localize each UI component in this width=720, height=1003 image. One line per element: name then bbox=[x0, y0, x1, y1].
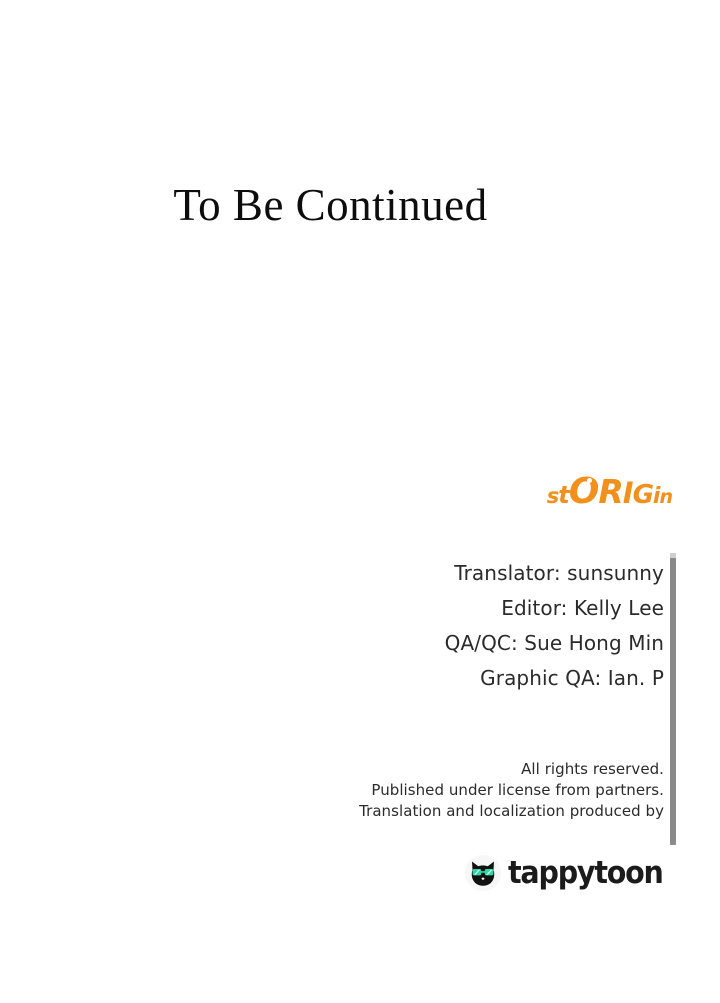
legal-line-rights: All rights reserved. bbox=[0, 759, 664, 780]
credit-line-qa-qc: QA/QC: Sue Hong Min bbox=[0, 626, 664, 661]
storigin-letter-t: t bbox=[558, 483, 568, 507]
comic-credits-page: To Be Continued stORIGin Translator: sun… bbox=[0, 0, 720, 1003]
storigin-letter-o: O bbox=[569, 474, 599, 510]
to-be-continued-heading-container: To Be Continued bbox=[0, 182, 720, 229]
credits-block: Translator: sunsunny Editor: Kelly Lee Q… bbox=[0, 556, 664, 696]
storigin-letter-r: R bbox=[598, 475, 622, 508]
storigin-logo: stORIGin bbox=[0, 474, 672, 514]
legal-line-license: Published under license from partners. bbox=[0, 780, 664, 801]
credit-line-translator: Translator: sunsunny bbox=[0, 556, 664, 591]
scrollbar-thumb[interactable] bbox=[670, 553, 676, 845]
tappytoon-logo-inner: tappytoon bbox=[465, 855, 676, 891]
tappytoon-logo: tappytoon bbox=[0, 855, 676, 891]
legal-line-localization: Translation and localization produced by bbox=[0, 801, 664, 822]
credit-line-graphic-qa: Graphic QA: Ian. P bbox=[0, 661, 664, 696]
credit-line-editor: Editor: Kelly Lee bbox=[0, 591, 664, 626]
storigin-letter-i: I bbox=[623, 479, 633, 508]
storigin-letter-g: G bbox=[633, 482, 653, 508]
legal-block: All rights reserved. Published under lic… bbox=[0, 759, 664, 822]
storigin-letter-n: n bbox=[659, 488, 672, 507]
storigin-letter-s: s bbox=[547, 486, 559, 507]
tappytoon-cat-icon bbox=[465, 855, 501, 891]
to-be-continued-heading: To Be Continued bbox=[173, 182, 487, 229]
tappytoon-wordmark: tappytoon bbox=[508, 856, 663, 890]
vertical-scrollbar[interactable] bbox=[669, 551, 677, 847]
